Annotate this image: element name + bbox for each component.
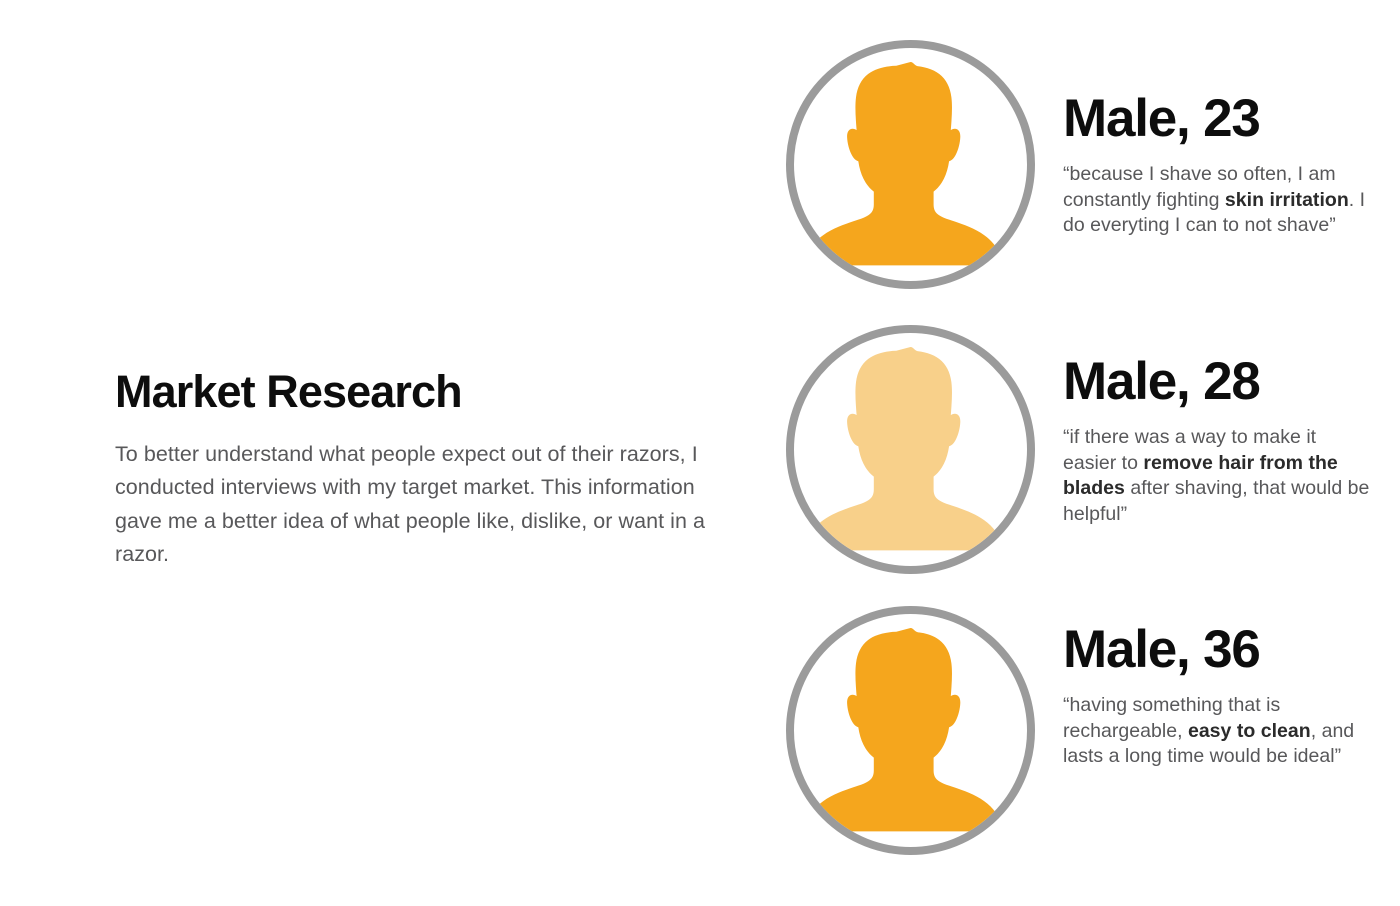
persona-name: Male, 28 <box>1063 355 1383 408</box>
avatar <box>786 40 1035 289</box>
persona-quote: “because I shave so often, I am constant… <box>1063 162 1373 239</box>
page-title: Market Research <box>115 368 715 416</box>
persona-card: Male, 23 “because I shave so often, I am… <box>780 40 1390 310</box>
avatar-clip <box>786 40 1035 289</box>
persona-quote: “if there was a way to make it easier to… <box>1063 425 1373 527</box>
persona-text: Male, 36 “having something that is recha… <box>1063 623 1383 770</box>
persona-card: Male, 28 “if there was a way to make it … <box>780 325 1390 595</box>
section-body-text: To better understand what people expect … <box>115 438 705 572</box>
person-silhouette-icon <box>786 40 1035 289</box>
avatar-clip <box>786 325 1035 574</box>
avatar <box>786 325 1035 574</box>
avatar-clip <box>786 606 1035 855</box>
persona-quote: “having something that is rechargeable, … <box>1063 693 1373 770</box>
persona-text: Male, 28 “if there was a way to make it … <box>1063 355 1383 527</box>
persona-name: Male, 23 <box>1063 92 1383 145</box>
persona-name: Male, 36 <box>1063 623 1383 676</box>
persona-text: Male, 23 “because I shave so often, I am… <box>1063 92 1383 239</box>
person-silhouette-icon <box>786 325 1035 574</box>
avatar <box>786 606 1035 855</box>
persona-card: Male, 36 “having something that is recha… <box>780 606 1390 876</box>
market-research-section: Market Research To better understand wha… <box>115 368 715 572</box>
person-silhouette-icon <box>786 606 1035 855</box>
